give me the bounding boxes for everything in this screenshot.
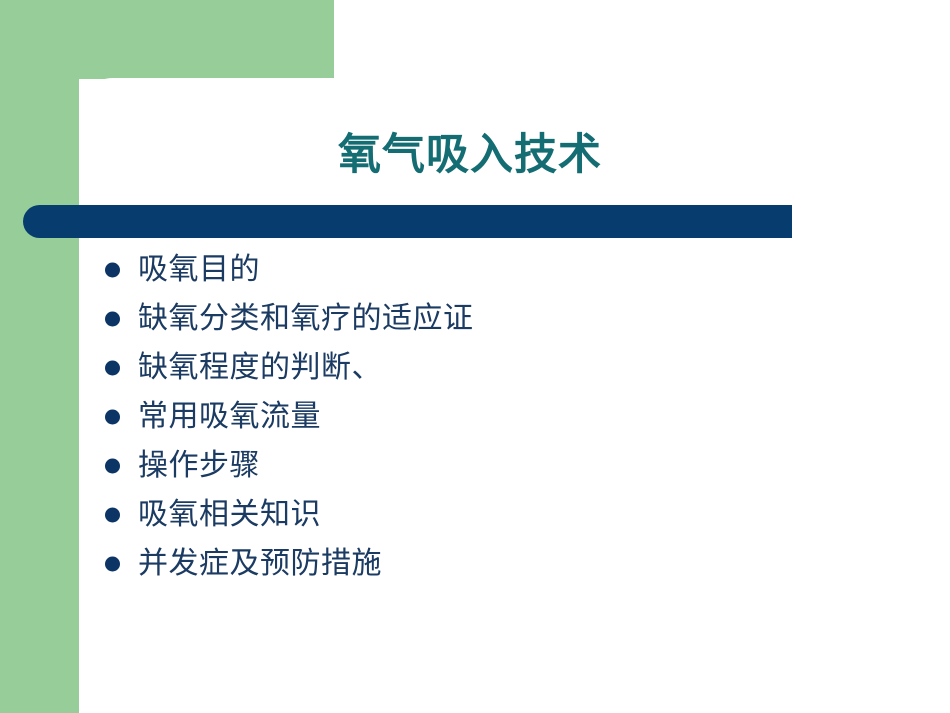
list-item: 缺氧程度的判断、	[102, 343, 862, 392]
list-item: 缺氧分类和氧疗的适应证	[102, 294, 862, 343]
bullet-dot-icon	[105, 507, 120, 522]
green-left-strip-decoration	[0, 0, 79, 713]
list-item: 操作步骤	[102, 441, 862, 490]
list-item-label: 常用吸氧流量	[138, 402, 321, 432]
title-underline-bar	[23, 205, 792, 238]
bullet-dot-icon	[105, 458, 120, 473]
list-item-label: 缺氧分类和氧疗的适应证	[138, 304, 474, 334]
list-item-label: 吸氧相关知识	[138, 500, 321, 530]
bullet-dot-icon	[105, 409, 120, 424]
list-item: 并发症及预防措施	[102, 539, 862, 588]
bullet-dot-icon	[105, 262, 120, 277]
slide-title: 氧气吸入技术	[120, 131, 820, 180]
list-item-label: 并发症及预防措施	[138, 549, 382, 579]
bullet-dot-icon	[105, 556, 120, 571]
list-item: 吸氧相关知识	[102, 490, 862, 539]
list-item: 吸氧目的	[102, 245, 862, 294]
green-top-band-decoration	[0, 0, 334, 79]
list-item-label: 吸氧目的	[138, 255, 260, 285]
bullet-dot-icon	[105, 360, 120, 375]
bullet-list: 吸氧目的 缺氧分类和氧疗的适应证 缺氧程度的判断、 常用吸氧流量 操作步骤 吸氧…	[102, 245, 862, 588]
list-item-label: 缺氧程度的判断、	[138, 353, 382, 383]
list-item-label: 操作步骤	[138, 451, 260, 481]
list-item: 常用吸氧流量	[102, 392, 862, 441]
presentation-slide: 氧气吸入技术 吸氧目的 缺氧分类和氧疗的适应证 缺氧程度的判断、 常用吸氧流量 …	[0, 0, 950, 713]
bullet-dot-icon	[105, 311, 120, 326]
